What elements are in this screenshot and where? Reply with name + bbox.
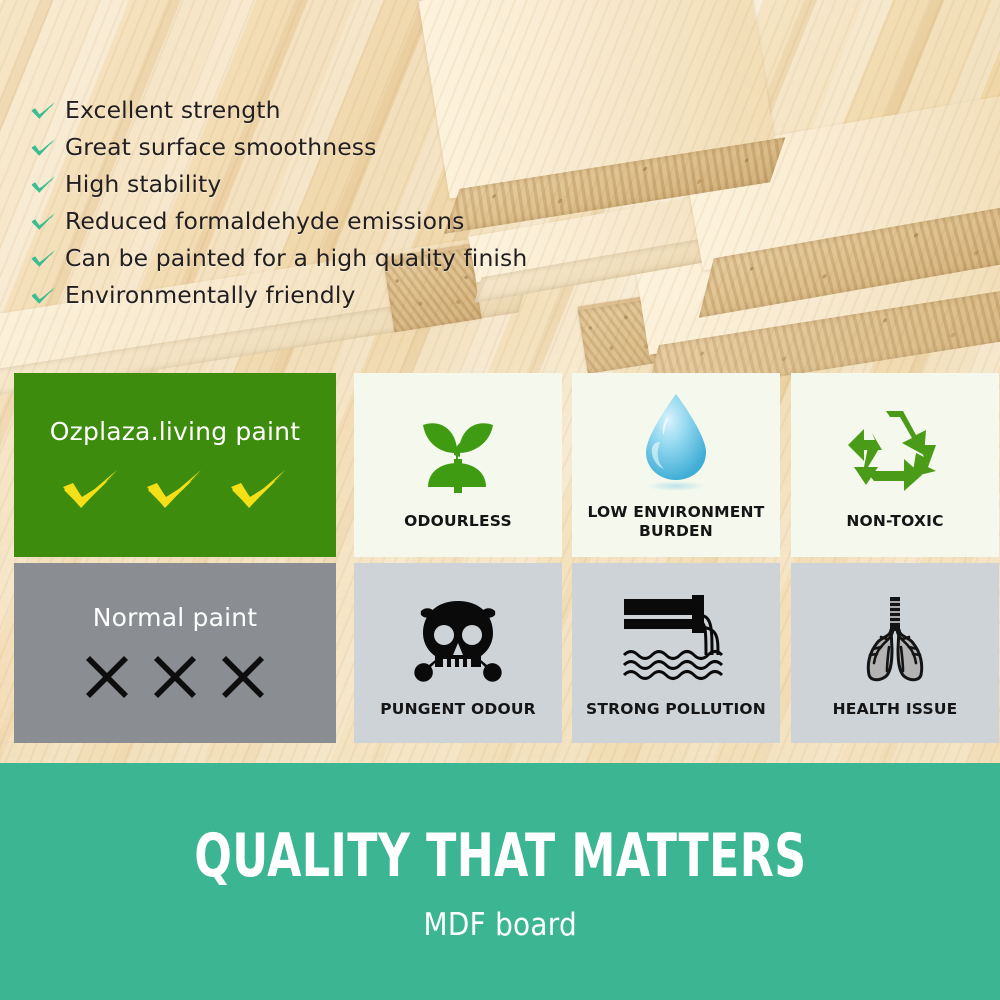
list-item: Can be painted for a high quality finish [28,240,588,277]
list-item-label: Great surface smoothness [65,136,376,160]
list-item-label: Reduced formaldehyde emissions [65,210,464,234]
benefit-card-label: LOW ENVIRONMENT BURDEN [572,503,780,540]
check-icon [28,172,58,198]
bottom-banner: QUALITY THAT MATTERS MDF board [0,763,1000,1000]
list-item: Environmentally friendly [28,277,588,314]
benefit-card-non-toxic: NON-TOXIC [791,373,999,557]
wood-slab [682,90,1000,271]
list-item: Excellent strength [28,92,588,129]
sprout-icon [410,399,506,503]
benefit-card-odourless: ODOURLESS [354,373,562,557]
lungs-icon [847,587,943,691]
recycle-icon [846,399,944,503]
drawback-card-pungent-odour: PUNGENT ODOUR [354,563,562,743]
cross-icon [84,654,130,704]
check-icon [228,468,290,514]
feature-list: Excellent strength Great surface smoothn… [28,92,588,314]
comparison-grid: Ozplaza.living paint Normal paint [14,373,985,743]
cross-icon [220,654,266,704]
wood-slab [577,294,666,372]
normal-paint-marks [84,654,266,704]
benefit-card-label: ODOURLESS [398,512,518,531]
banner-subhead: MDF board [423,907,576,943]
drawback-card-label: PUNGENT ODOUR [374,700,542,719]
check-icon [28,209,58,235]
good-paint-marks [60,468,290,514]
pipe-pollution-icon [620,587,732,691]
good-paint-panel: Ozplaza.living paint [14,373,336,557]
list-item: Great surface smoothness [28,129,588,166]
check-icon [144,468,206,514]
good-paint-title: Ozplaza.living paint [50,417,300,446]
normal-paint-title: Normal paint [93,603,258,632]
skull-crossbones-icon [405,587,511,691]
list-item: High stability [28,166,588,203]
list-item-label: Can be painted for a high quality finish [65,247,527,271]
banner-headline: QUALITY THAT MATTERS [194,821,806,891]
wood-slab [636,207,1000,355]
list-item-label: High stability [65,173,221,197]
benefit-card-low-environment-burden: LOW ENVIRONMENT BURDEN [572,373,780,557]
drawback-card-label: STRONG POLLUTION [580,700,772,719]
normal-paint-panel: Normal paint [14,563,336,743]
cross-icon [152,654,198,704]
check-icon [28,283,58,309]
list-item: Reduced formaldehyde emissions [28,203,588,240]
list-item-label: Environmentally friendly [65,284,355,308]
drawback-card-label: HEALTH ISSUE [827,700,964,719]
infographic-stage: Excellent strength Great surface smoothn… [0,0,1000,1000]
check-icon [28,246,58,272]
drawback-card-health-issue: HEALTH ISSUE [791,563,999,743]
check-icon [28,135,58,161]
water-drop-icon [634,390,718,494]
check-icon [28,98,58,124]
drawback-card-strong-pollution: STRONG POLLUTION [572,563,780,743]
benefit-card-label: NON-TOXIC [840,512,949,531]
list-item-label: Excellent strength [65,99,281,123]
check-icon [60,468,122,514]
